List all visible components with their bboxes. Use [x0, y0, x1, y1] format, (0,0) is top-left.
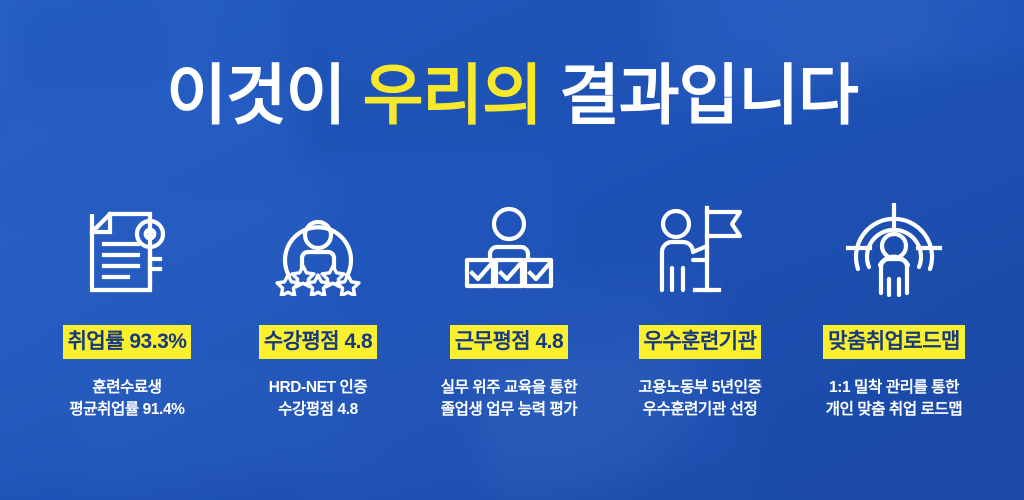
desc-line-1: 고용노동부 5년인증	[605, 377, 796, 399]
stat-card-employment-rate: 취업률 93.3% 훈련수료생 평균취업률 91.4%	[32, 200, 223, 421]
stat-description: 1:1 밀착 관리를 통한 개인 맞춤 취업 로드맵	[796, 377, 993, 421]
stat-card-work-rating: 근무평점 4.8 실무 위주 교육을 통한 졸업생 업무 능력 평가	[414, 200, 605, 421]
desc-line-1: 훈련수료생	[32, 377, 223, 399]
status-badge: 수강평점 4.8	[259, 325, 377, 359]
status-badge: 근무평점 4.8	[450, 325, 568, 359]
metric-badge-wrap: 취업률 93.3%	[32, 326, 223, 358]
stat-card-course-rating: 수강평점 4.8 HRD-NET 인증 수강평점 4.8	[223, 200, 414, 421]
stat-description: 훈련수료생 평균취업률 91.4%	[32, 377, 223, 421]
stat-card-career-roadmap: 맞춤취업로드맵 1:1 밀착 관리를 통한 개인 맞춤 취업 로드맵	[796, 200, 993, 421]
stat-card-excellent-institution: 우수훈련기관 고용노동부 5년인증 우수훈련기관 선정	[605, 200, 796, 421]
target-person-icon	[796, 200, 993, 300]
desc-line-2: 우수훈련기관 선정	[605, 399, 796, 421]
stat-description: 고용노동부 5년인증 우수훈련기관 선정	[605, 377, 796, 421]
metric-badge-wrap: 우수훈련기관	[605, 326, 796, 358]
stat-description: 실무 위주 교육을 통한 졸업생 업무 능력 평가	[414, 377, 605, 421]
metric-badge-wrap: 근무평점 4.8	[414, 326, 605, 358]
desc-line-2: 졸업생 업무 능력 평가	[414, 399, 605, 421]
stats-card-list: 취업률 93.3% 훈련수료생 평균취업률 91.4%	[0, 200, 1024, 421]
document-key-icon	[32, 200, 223, 300]
status-badge: 맞춤취업로드맵	[823, 325, 965, 359]
person-flag-icon	[605, 200, 796, 300]
desc-line-2: 수강평점 4.8	[223, 399, 414, 421]
metric-badge-wrap: 맞춤취업로드맵	[796, 326, 993, 358]
desc-line-1: 실무 위주 교육을 통한	[414, 377, 605, 399]
person-stars-rating-icon	[223, 200, 414, 300]
page-title: 이것이 우리의 결과입니다	[0, 62, 1024, 128]
results-banner: 이것이 우리의 결과입니다	[0, 0, 1024, 500]
person-checkboxes-icon	[414, 200, 605, 300]
status-badge: 우수훈련기관	[639, 325, 762, 359]
stat-description: HRD-NET 인증 수강평점 4.8	[223, 377, 414, 421]
status-badge: 취업률 93.3%	[63, 325, 192, 359]
headline-highlight: 우리의	[363, 58, 542, 132]
desc-line-2: 평균취업률 91.4%	[32, 399, 223, 421]
desc-line-1: 1:1 밀착 관리를 통한	[796, 377, 993, 399]
headline-part-1: 이것이	[166, 58, 363, 132]
headline-part-2: 결과입니다	[542, 58, 858, 132]
desc-line-1: HRD-NET 인증	[223, 377, 414, 399]
metric-badge-wrap: 수강평점 4.8	[223, 326, 414, 358]
desc-line-2: 개인 맞춤 취업 로드맵	[796, 399, 993, 421]
